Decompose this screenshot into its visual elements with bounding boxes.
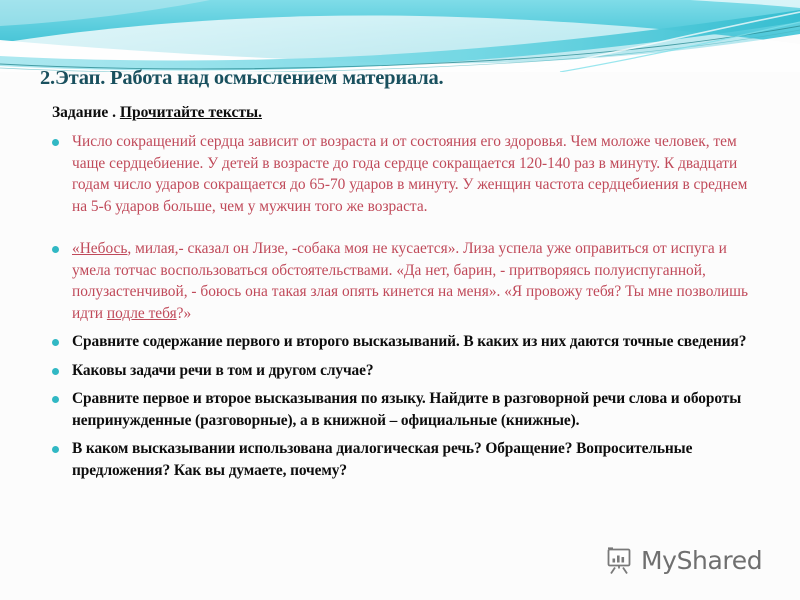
myshared-logo: MyShared [604, 543, 784, 579]
list-item-heart-rate-text: Число сокращений сердца зависит от возра… [46, 131, 758, 217]
task-label: Задание . [52, 104, 116, 121]
list-item-question-dialogue-speech: В каком высказывании использована диалог… [46, 438, 758, 481]
list-item-question-compare-language: Сравните первое и второе высказывания по… [46, 388, 758, 431]
quote-tail-underlined: подле тебя [107, 305, 177, 322]
quote-lead-underlined: «Небось [72, 240, 127, 257]
bullet-list: Число сокращений сердца зависит от возра… [46, 131, 758, 488]
slide-content: 2.Этап. Работа над осмыслением материала… [0, 0, 800, 600]
task-instruction: Прочитайте тексты. [120, 104, 262, 121]
list-item-question-speech-goals: Каковы задачи речи в том и другом случае… [46, 360, 758, 382]
slide: 2.Этап. Работа над осмыслением материала… [0, 0, 800, 600]
task-heading: Задание . Прочитайте тексты. [52, 103, 262, 122]
flipchart-bar-chart-icon [604, 546, 634, 576]
myshared-logo-text: MyShared [641, 546, 762, 576]
list-item-question-compare-content: Сравните содержание первого и второго вы… [46, 331, 758, 353]
list-item-liza-dialogue-text: «Небось, милая,- сказал он Лизе, -собака… [46, 238, 758, 324]
page-title: 2.Этап. Работа над осмыслением материала… [40, 66, 760, 90]
quote-tail: ?» [177, 305, 192, 322]
